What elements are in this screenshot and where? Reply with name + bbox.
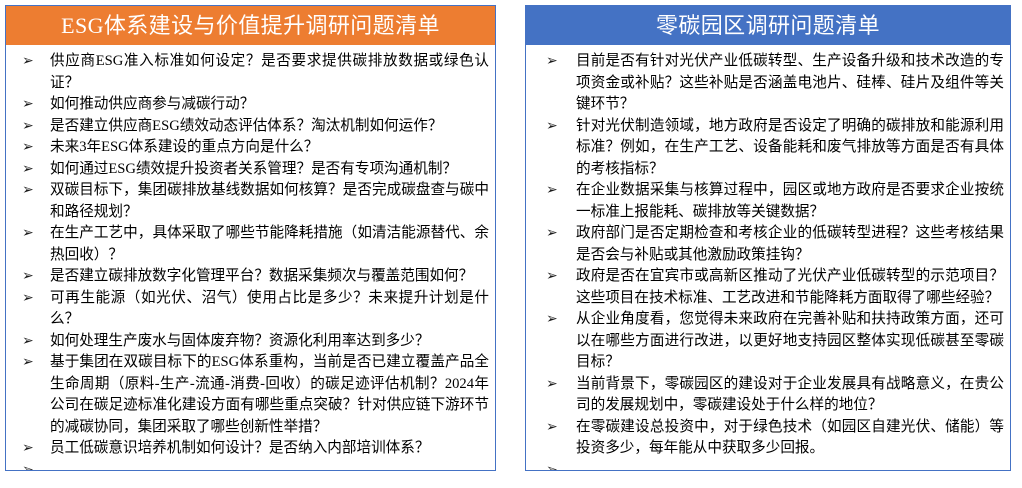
arrow-bullet-icon: ➢	[22, 288, 42, 310]
list-item: ➢目前是否有针对光伏产业低碳转型、生产设备升级和技术改造的专项资金或补贴？这些补…	[532, 51, 1004, 116]
question-text: 可再生能源（如光伏、沼气）使用占比是多少？未来提升计划是什么？	[50, 288, 489, 331]
question-text: 目前是否有针对光伏产业低碳转型、生产设备升级和技术改造的专项资金或补贴？这些补贴…	[576, 51, 1004, 116]
list-item: ➢如何通过ESG绩效提升投资者关系管理？是否有专项沟通机制？	[12, 159, 489, 181]
list-item: ➢基于集团在双碳目标下的ESG体系重构，当前是否已建立覆盖产品全生命周期（原料-…	[12, 352, 489, 438]
arrow-bullet-icon: ➢	[546, 51, 566, 73]
list-item: ➢如何推动供应商参与减碳行动？	[12, 94, 489, 116]
esg-panel-title: ESG体系建设与价值提升调研问题清单	[6, 6, 495, 45]
list-item: ➢在企业数据采集与核算过程中，园区或地方政府是否要求企业按统一标准上报能耗、碳排…	[532, 180, 1004, 223]
question-text: 在生产工艺中，具体采取了哪些节能降耗措施（如清洁能源替代、余热回收）？	[50, 223, 489, 266]
arrow-bullet-icon: ➢	[22, 180, 42, 202]
list-item: ➢是否建立供应商ESG绩效动态评估体系？淘汰机制如何运作？	[12, 116, 489, 138]
arrow-bullet-icon: ➢	[22, 266, 42, 288]
arrow-bullet-icon: ➢	[546, 309, 566, 331]
zero-carbon-panel-title: 零碳园区调研问题清单	[526, 6, 1010, 45]
arrow-bullet-icon: ➢	[22, 116, 42, 138]
question-text: 在企业数据采集与核算过程中，园区或地方政府是否要求企业按统一标准上报能耗、碳排放…	[576, 180, 1004, 223]
zero-carbon-question-list: ➢目前是否有针对光伏产业低碳转型、生产设备升级和技术改造的专项资金或补贴？这些补…	[532, 51, 1004, 470]
arrow-bullet-icon: ➢	[22, 331, 42, 353]
list-item: ➢可再生能源（如光伏、沼气）使用占比是多少？未来提升计划是什么？	[12, 288, 489, 331]
question-text: 如何通过ESG绩效提升投资者关系管理？是否有专项沟通机制？	[50, 159, 489, 181]
question-text: 当前背景下，零碳园区的建设对于企业发展具有战略意义，在贵公司的发展规划中，零碳建…	[576, 374, 1004, 417]
list-item: ➢未来3年ESG体系建设的重点方向是什么？	[12, 137, 489, 159]
arrow-bullet-icon: ➢	[546, 180, 566, 202]
arrow-bullet-icon: ➢	[22, 352, 42, 374]
arrow-bullet-icon: ➢	[22, 438, 42, 460]
arrow-bullet-icon: ➢	[22, 460, 42, 471]
arrow-bullet-icon: ➢	[22, 94, 42, 116]
arrow-bullet-icon: ➢	[546, 460, 566, 471]
question-text: 未来3年ESG体系建设的重点方向是什么？	[50, 137, 489, 159]
list-item: ➢针对光伏制造领域，地方政府是否设定了明确的碳排放和能源利用标准？例如，在生产工…	[532, 116, 1004, 181]
zero-carbon-panel-body: ➢目前是否有针对光伏产业低碳转型、生产设备升级和技术改造的专项资金或补贴？这些补…	[526, 45, 1010, 470]
list-item: ➢在零碳建设总投资中，对于绿色技术（如园区自建光伏、储能）等投资多少，每年能从中…	[532, 417, 1004, 460]
zero-carbon-question-list-panel: 零碳园区调研问题清单 ➢目前是否有针对光伏产业低碳转型、生产设备升级和技术改造的…	[525, 5, 1011, 471]
question-text: 在零碳建设总投资中，对于绿色技术（如园区自建光伏、储能）等投资多少，每年能从中获…	[576, 417, 1004, 460]
question-text: 如何推动供应商参与减碳行动？	[50, 94, 489, 116]
question-text: 政府是否在宜宾市或高新区推动了光伏产业低碳转型的示范项目？这些项目在技术标准、工…	[576, 266, 1004, 309]
list-item: ➢…	[12, 460, 489, 471]
arrow-bullet-icon: ➢	[22, 137, 42, 159]
arrow-bullet-icon: ➢	[546, 266, 566, 288]
esg-question-list-panel: ESG体系建设与价值提升调研问题清单 ➢供应商ESG准入标准如何设定？是否要求提…	[5, 5, 496, 471]
list-item: ➢是否建立碳排放数字化管理平台？数据采集频次与覆盖范围如何？	[12, 266, 489, 288]
question-text: 是否建立碳排放数字化管理平台？数据采集频次与覆盖范围如何？	[50, 266, 489, 288]
arrow-bullet-icon: ➢	[22, 51, 42, 73]
two-panel-board: ESG体系建设与价值提升调研问题清单 ➢供应商ESG准入标准如何设定？是否要求提…	[0, 0, 1022, 488]
arrow-bullet-icon: ➢	[546, 417, 566, 439]
question-text: 是否建立供应商ESG绩效动态评估体系？淘汰机制如何运作？	[50, 116, 489, 138]
arrow-bullet-icon: ➢	[546, 223, 566, 245]
arrow-bullet-icon: ➢	[546, 116, 566, 138]
list-item: ➢员工低碳意识培养机制如何设计？是否纳入内部培训体系？	[12, 438, 489, 460]
list-item: ➢双碳目标下，集团碳排放基线数据如何核算？是否完成碳盘查与碳中和路径规划？	[12, 180, 489, 223]
question-text: 政府部门是否定期检查和考核企业的低碳转型进程？这些考核结果是否会与补贴或其他激励…	[576, 223, 1004, 266]
list-item: ➢政府部门是否定期检查和考核企业的低碳转型进程？这些考核结果是否会与补贴或其他激…	[532, 223, 1004, 266]
question-text: 供应商ESG准入标准如何设定？是否要求提供碳排放数据或绿色认证？	[50, 51, 489, 94]
list-item: ➢政府是否在宜宾市或高新区推动了光伏产业低碳转型的示范项目？这些项目在技术标准、…	[532, 266, 1004, 309]
esg-panel-body: ➢供应商ESG准入标准如何设定？是否要求提供碳排放数据或绿色认证？➢如何推动供应…	[6, 45, 495, 470]
list-item: ➢供应商ESG准入标准如何设定？是否要求提供碳排放数据或绿色认证？	[12, 51, 489, 94]
arrow-bullet-icon: ➢	[22, 159, 42, 181]
question-text: 针对光伏制造领域，地方政府是否设定了明确的碳排放和能源利用标准？例如，在生产工艺…	[576, 116, 1004, 181]
list-item: ➢…	[532, 460, 1004, 471]
list-item: ➢从企业角度看，您觉得未来政府在完善补贴和扶持政策方面，还可以在哪些方面进行改进…	[532, 309, 1004, 374]
question-text: 从企业角度看，您觉得未来政府在完善补贴和扶持政策方面，还可以在哪些方面进行改进，…	[576, 309, 1004, 374]
question-text: …	[50, 460, 489, 471]
arrow-bullet-icon: ➢	[546, 374, 566, 396]
question-text: 员工低碳意识培养机制如何设计？是否纳入内部培训体系？	[50, 438, 489, 460]
question-text: 双碳目标下，集团碳排放基线数据如何核算？是否完成碳盘查与碳中和路径规划？	[50, 180, 489, 223]
list-item: ➢如何处理生产废水与固体废弃物？资源化利用率达到多少？	[12, 331, 489, 353]
esg-question-list: ➢供应商ESG准入标准如何设定？是否要求提供碳排放数据或绿色认证？➢如何推动供应…	[12, 51, 489, 470]
arrow-bullet-icon: ➢	[22, 223, 42, 245]
question-text: 如何处理生产废水与固体废弃物？资源化利用率达到多少？	[50, 331, 489, 353]
question-text: …	[576, 460, 1004, 471]
list-item: ➢在生产工艺中，具体采取了哪些节能降耗措施（如清洁能源替代、余热回收）？	[12, 223, 489, 266]
question-text: 基于集团在双碳目标下的ESG体系重构，当前是否已建立覆盖产品全生命周期（原料-生…	[50, 352, 489, 438]
list-item: ➢当前背景下，零碳园区的建设对于企业发展具有战略意义，在贵公司的发展规划中，零碳…	[532, 374, 1004, 417]
